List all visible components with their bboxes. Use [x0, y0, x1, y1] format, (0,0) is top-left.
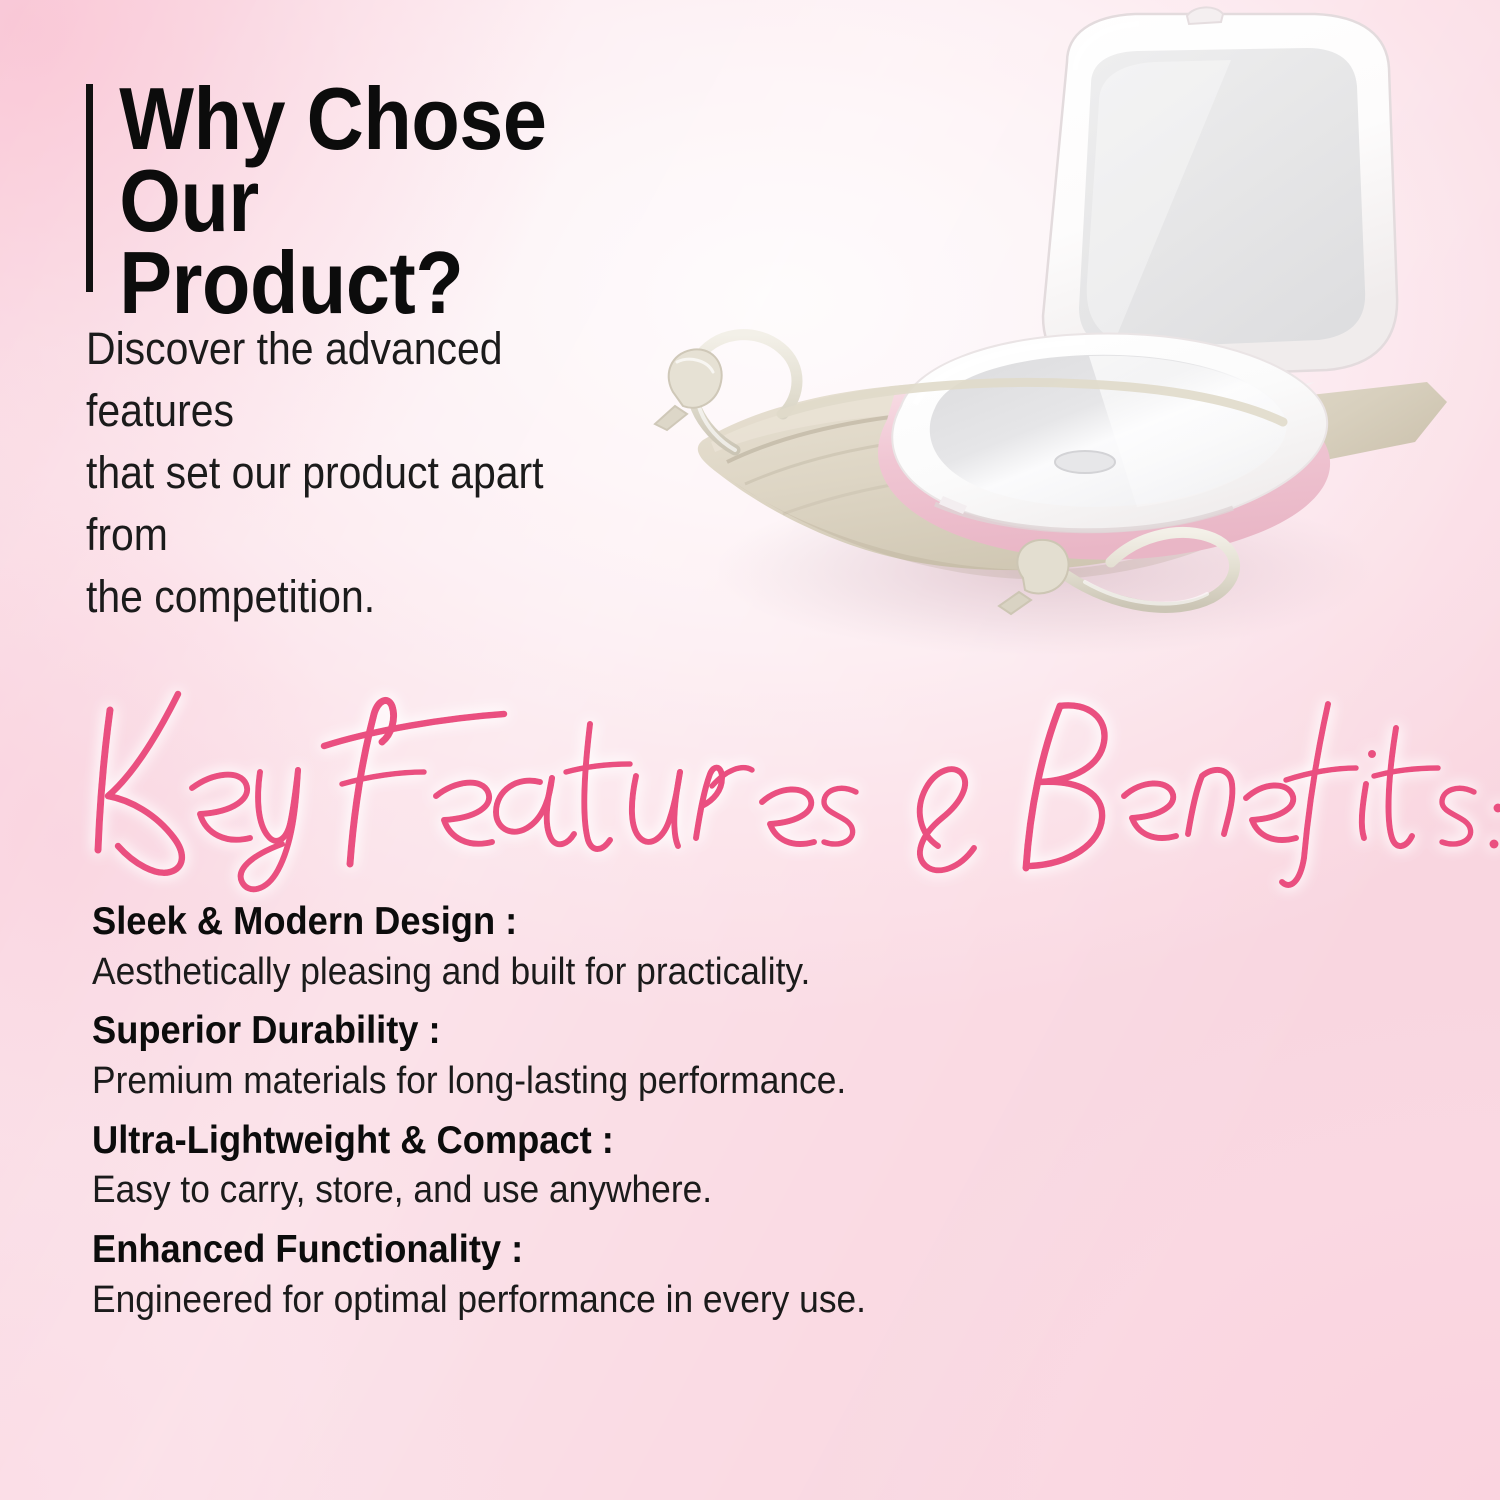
feature-item: Sleek & Modern Design : Aesthetically pl… [92, 898, 1092, 996]
pouch-hem [711, 390, 1294, 452]
pouch-fold-3 [783, 472, 1279, 514]
feature-title: Sleek & Modern Design : [92, 898, 1022, 946]
mirror-lid [1043, 7, 1397, 378]
features-list: Sleek & Modern Design : Aesthetically pl… [92, 898, 1092, 1336]
base-glass-highlight [1089, 356, 1287, 507]
product-image [615, 10, 1475, 690]
base-mirror-glass [930, 355, 1287, 507]
key-features-script-title: Key Features & Benefits: [74, 668, 1084, 883]
touch-button [1055, 451, 1115, 473]
base-seam-notch [939, 496, 967, 514]
page-subtitle: Discover the advanced features that set … [86, 318, 632, 628]
mirror-base [878, 334, 1330, 560]
product-shadow [715, 484, 1375, 656]
feature-item: Ultra-Lightweight & Compact : Easy to ca… [92, 1117, 1092, 1215]
feature-title: Enhanced Functionality : [92, 1226, 1022, 1274]
headline-block: Why Chose Our Product? [86, 78, 726, 323]
page-title: Why Chose Our Product? [86, 78, 662, 323]
feature-description: Premium materials for long-lasting perfo… [92, 1058, 1022, 1106]
pouch-fold-1 [727, 410, 1287, 462]
feature-description: Easy to carry, store, and use anywhere. [92, 1167, 1022, 1215]
lid-mirror-glass [1079, 48, 1365, 348]
feature-item: Superior Durability : Premium materials … [92, 1007, 1092, 1105]
feature-title: Superior Durability : [92, 1007, 1022, 1055]
base-led-ring [892, 334, 1327, 532]
lid-shell [1043, 14, 1397, 378]
base-pink-body [878, 392, 1330, 560]
mirror-hinge [1067, 366, 1315, 401]
cord-left-knot [655, 349, 722, 430]
pouch-lower-shadow [725, 472, 1305, 579]
product-infographic-poster: Why Chose Our Product? Discover the adva… [0, 0, 1500, 1500]
cord-right-knot [999, 540, 1069, 614]
cord-channel [781, 382, 1283, 422]
feature-item: Enhanced Functionality : Engineered for … [92, 1226, 1092, 1324]
feature-title: Ultra-Lightweight & Compact : [92, 1117, 1022, 1165]
feature-description: Engineered for optimal performance in ev… [92, 1277, 1022, 1325]
cord-right-loop [1067, 532, 1235, 607]
lid-glass-reflection [1087, 60, 1231, 340]
pouch-body [698, 382, 1324, 570]
drawstring-cords [655, 335, 1283, 614]
cord-left-loop [691, 335, 797, 450]
lid-top-nub [1187, 7, 1223, 24]
drawstring-pouch [698, 382, 1447, 579]
feature-description: Aesthetically pleasing and built for pra… [92, 949, 1022, 997]
pouch-fold-2 [745, 434, 1291, 484]
pouch-flap-right [1175, 382, 1447, 480]
